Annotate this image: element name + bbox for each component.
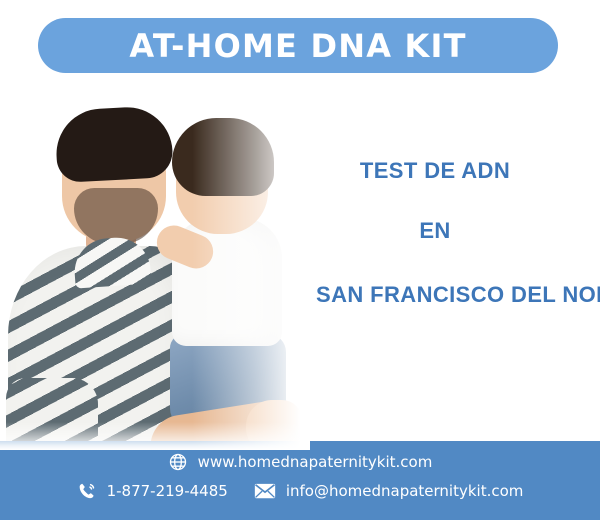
footer-contact-band: www.homednapaternitykit.com 1-877-219-44… (0, 441, 600, 520)
headline-block: TEST DE ADN EN SAN FRANCISCO DEL NORTE (280, 160, 590, 306)
photo-fade-bottom-overlay (0, 422, 310, 450)
phone-icon (77, 481, 97, 501)
footer-website-item[interactable]: www.homednapaternitykit.com (168, 452, 433, 472)
banner-title: AT-HOME DNA KIT (129, 30, 466, 62)
poster-canvas: AT-HOME DNA KIT TEST DE ADN EN SAN FRANC… (0, 0, 600, 520)
globe-icon (168, 452, 188, 472)
footer-website-text: www.homednapaternitykit.com (198, 455, 433, 470)
envelope-icon (254, 481, 276, 501)
father-and-child-photo (0, 78, 310, 450)
footer-website-row: www.homednapaternitykit.com (0, 452, 600, 472)
footer-phone-text: 1-877-219-4485 (107, 484, 228, 499)
headline-line-location: SAN FRANCISCO DEL NORTE (316, 284, 600, 306)
footer-phone-item[interactable]: 1-877-219-4485 (77, 481, 228, 501)
header-banner-pill: AT-HOME DNA KIT (38, 18, 558, 73)
photo-fade-overlay (0, 78, 310, 450)
footer-phone-email-row: 1-877-219-4485 info@homednapaternitykit.… (0, 481, 600, 501)
headline-line-service: TEST DE ADN (280, 160, 590, 182)
headline-line-preposition: EN (280, 220, 590, 242)
footer-email-text: info@homednapaternitykit.com (286, 484, 524, 499)
footer-email-item[interactable]: info@homednapaternitykit.com (254, 481, 524, 501)
